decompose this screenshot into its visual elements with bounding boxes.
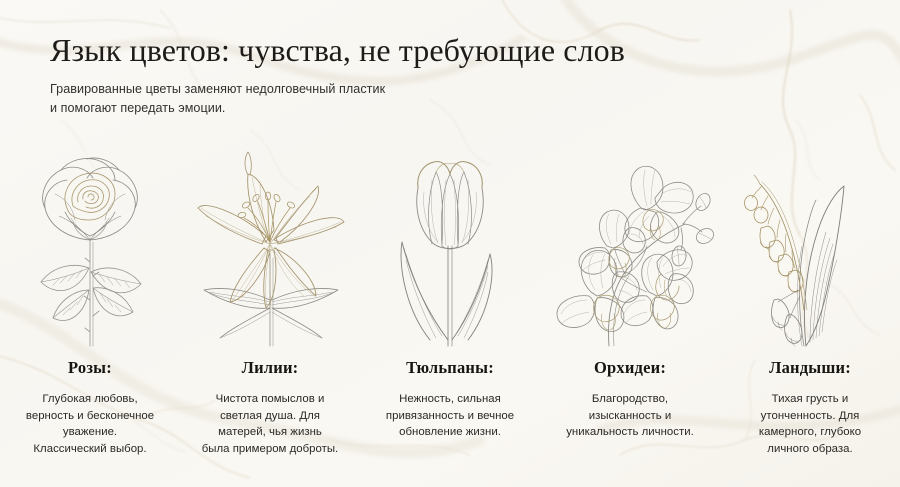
- flower-illustration-row: [0, 140, 900, 350]
- rose-illustration: [15, 150, 165, 350]
- lily-of-the-valley-illustration: [740, 150, 880, 350]
- flower-cell-orchid: [540, 140, 720, 350]
- tulip-illustration: [380, 150, 520, 350]
- caption-heading-lily: Лилии:: [192, 358, 348, 378]
- caption-line: Чистота помыслов и: [192, 391, 348, 408]
- caption-heading-tulip: Тюльпаны:: [372, 358, 528, 378]
- caption-line: была примером доброты.: [192, 441, 348, 458]
- caption-heading-orchid: Орхидеи:: [552, 358, 708, 378]
- page-title: Язык цветов: чувства, не требующие слов: [50, 30, 810, 70]
- caption-line: личного образа.: [732, 441, 888, 458]
- subtitle-line-1: Гравированные цветы заменяют недолговечн…: [50, 80, 810, 99]
- orchid-illustration: [545, 150, 715, 350]
- page-subtitle: Гравированные цветы заменяют недолговечн…: [50, 80, 810, 118]
- flower-cell-rose: [0, 140, 180, 350]
- caption-body-lily: Чистота помыслов и светлая душа. Для мат…: [192, 391, 348, 457]
- caption-orchid: Орхидеи: Благородство, изысканность и ун…: [540, 358, 720, 457]
- caption-tulip: Тюльпаны: Нежность, сильная привязанност…: [360, 358, 540, 457]
- caption-line: утонченность. Для: [732, 408, 888, 425]
- caption-line: Благородство,: [552, 391, 708, 408]
- caption-heading-rose: Розы:: [12, 358, 168, 378]
- caption-line: привязанность и вечное: [372, 408, 528, 425]
- caption-lily: Лилии: Чистота помыслов и светлая душа. …: [180, 358, 360, 457]
- flower-cell-tulip: [360, 140, 540, 350]
- flower-cell-lily: [180, 140, 360, 350]
- caption-line: обновление жизни.: [372, 424, 528, 441]
- caption-body-orchid: Благородство, изысканность и уникальност…: [552, 391, 708, 441]
- caption-body-lily-of-the-valley: Тихая грусть и утонченность. Для камерно…: [732, 391, 888, 457]
- caption-line: Тихая грусть и: [732, 391, 888, 408]
- flower-cell-lily-of-the-valley: [720, 140, 900, 350]
- lily-illustration: [190, 150, 350, 350]
- caption-line: матерей, чья жизнь: [192, 424, 348, 441]
- caption-line: изысканность и: [552, 408, 708, 425]
- caption-line: камерного, глубоко: [732, 424, 888, 441]
- caption-body-tulip: Нежность, сильная привязанность и вечное…: [372, 391, 528, 441]
- caption-rose: Розы: Глубокая любовь, верность и бескон…: [0, 358, 180, 457]
- caption-lily-of-the-valley: Ландыши: Тихая грусть и утонченность. Дл…: [720, 358, 900, 457]
- caption-row: Розы: Глубокая любовь, верность и бескон…: [0, 358, 900, 457]
- header: Язык цветов: чувства, не требующие слов …: [50, 30, 810, 118]
- caption-line: уважение.: [12, 424, 168, 441]
- caption-body-rose: Глубокая любовь, верность и бесконечное …: [12, 391, 168, 457]
- caption-line: Нежность, сильная: [372, 391, 528, 408]
- caption-line: Классический выбор.: [12, 441, 168, 458]
- subtitle-line-2: и помогают передать эмоции.: [50, 99, 810, 118]
- caption-line: уникальность личности.: [552, 424, 708, 441]
- caption-line: Глубокая любовь,: [12, 391, 168, 408]
- caption-heading-lily-of-the-valley: Ландыши:: [732, 358, 888, 378]
- caption-line: верность и бесконечное: [12, 408, 168, 425]
- caption-line: светлая душа. Для: [192, 408, 348, 425]
- poster-canvas: Язык цветов: чувства, не требующие слов …: [0, 0, 900, 487]
